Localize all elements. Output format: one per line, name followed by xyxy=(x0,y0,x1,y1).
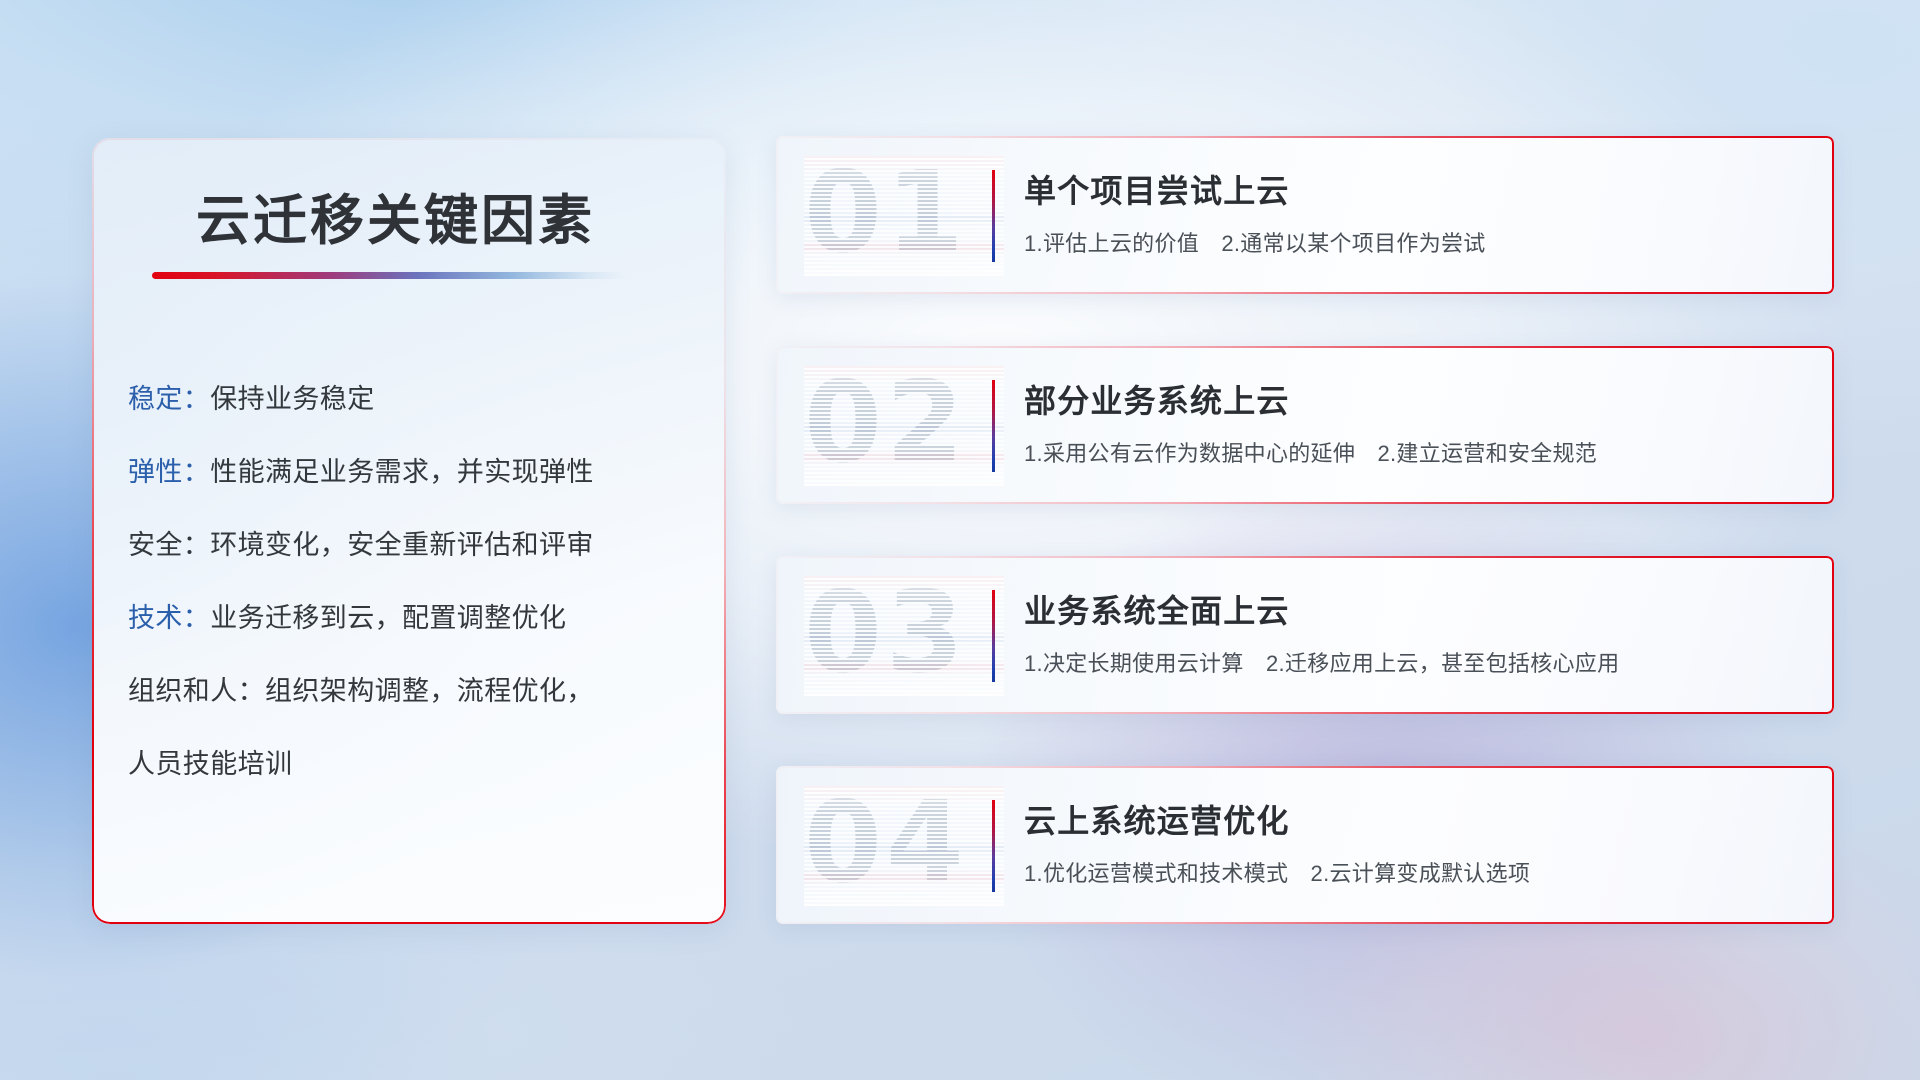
stage-number-02: 02 xyxy=(804,366,1004,486)
stage-card-03[interactable]: 03 业务系统全面上云 1.决定长期使用云计算 2.迁移应用上云，甚至包括核心应… xyxy=(776,556,1834,714)
list-item: 弹性：性能满足业务需求，并实现弹性 xyxy=(128,459,704,486)
list-item: 人员技能培训 xyxy=(128,751,704,778)
stage-number-glyph: 04 xyxy=(804,786,968,906)
key-factors-list: 稳定：保持业务稳定 弹性：性能满足业务需求，并实现弹性 安全：环境变化，安全重新… xyxy=(128,386,704,778)
stage-number-01: 01 xyxy=(804,156,1004,276)
list-item-label: 组织和人： xyxy=(128,676,265,706)
stage-card-01[interactable]: 01 单个项目尝试上云 1.评估上云的价值 2.通常以某个项目作为尝试 xyxy=(776,136,1834,294)
stage-number-glyph: 02 xyxy=(804,366,968,486)
stage-description: 1.优化运营模式和技术模式 2.云计算变成默认选项 xyxy=(1024,856,1530,888)
stage-title: 云上系统运营优化 xyxy=(1024,796,1290,842)
stage-description: 1.评估上云的价值 2.通常以某个项目作为尝试 xyxy=(1024,226,1486,258)
stage-divider-bar xyxy=(992,170,995,262)
list-item: 安全：环境变化，安全重新评估和评审 xyxy=(128,532,704,559)
stage-title: 部分业务系统上云 xyxy=(1024,376,1290,422)
list-item-text: 环境变化，安全重新评估和评审 xyxy=(210,530,594,560)
stage-divider-bar xyxy=(992,590,995,682)
list-item-label: 技术： xyxy=(128,603,210,633)
list-item-text: 业务迁移到云，配置调整优化 xyxy=(210,603,566,633)
stage-description: 1.决定长期使用云计算 2.迁移应用上云，甚至包括核心应用 xyxy=(1024,646,1619,678)
stage-card-02[interactable]: 02 部分业务系统上云 1.采用公有云作为数据中心的延伸 2.建立运营和安全规范 xyxy=(776,346,1834,504)
list-item-text: 组织架构调整，流程优化， xyxy=(265,676,594,706)
page-title: 云迁移关键因素 xyxy=(196,176,595,255)
stage-number-03: 03 xyxy=(804,576,1004,696)
stage-title: 单个项目尝试上云 xyxy=(1024,166,1290,212)
slide-root: 云迁移关键因素 稳定：保持业务稳定 弹性：性能满足业务需求，并实现弹性 安全：环… xyxy=(0,0,1920,1080)
stage-divider-bar xyxy=(992,800,995,892)
list-item: 组织和人：组织架构调整，流程优化， xyxy=(128,678,704,705)
stage-number-glyph: 01 xyxy=(804,156,968,276)
list-item-label: 稳定： xyxy=(128,384,210,414)
list-item-label: 弹性： xyxy=(128,457,210,487)
title-underline-accent xyxy=(152,272,626,279)
stage-number-04: 04 xyxy=(804,786,1004,906)
list-item-text: 性能满足业务需求，并实现弹性 xyxy=(210,457,594,487)
stage-number-glyph: 03 xyxy=(804,576,968,696)
stage-description: 1.采用公有云作为数据中心的延伸 2.建立运营和安全规范 xyxy=(1024,436,1597,468)
stage-title: 业务系统全面上云 xyxy=(1024,586,1290,632)
list-item-label: 安全： xyxy=(128,530,210,560)
list-item: 技术：业务迁移到云，配置调整优化 xyxy=(128,605,704,632)
list-item-text: 人员技能培训 xyxy=(128,749,292,779)
list-item: 稳定：保持业务稳定 xyxy=(128,386,704,413)
stage-card-04[interactable]: 04 云上系统运营优化 1.优化运营模式和技术模式 2.云计算变成默认选项 xyxy=(776,766,1834,924)
list-item-text: 保持业务稳定 xyxy=(210,384,374,414)
stage-divider-bar xyxy=(992,380,995,472)
